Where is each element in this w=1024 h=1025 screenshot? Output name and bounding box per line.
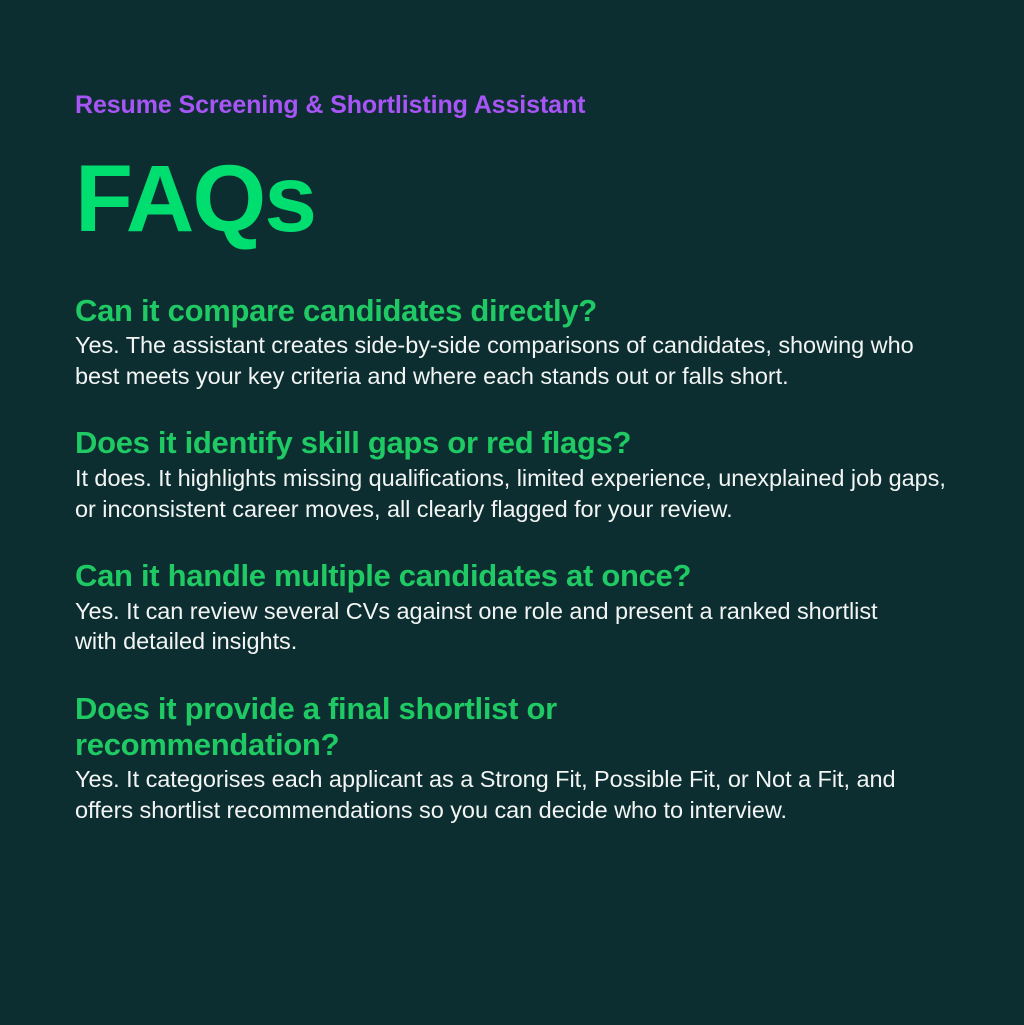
faq-question: Can it handle multiple candidates at onc… bbox=[75, 558, 935, 593]
faq-item: Can it handle multiple candidates at onc… bbox=[75, 558, 955, 657]
faq-item: Does it identify skill gaps or red flags… bbox=[75, 425, 955, 524]
content-container: Resume Screening & Shortlisting Assistan… bbox=[75, 92, 965, 825]
faq-item: Can it compare candidates directly? Yes.… bbox=[75, 293, 955, 392]
faq-item: Does it provide a final shortlist or rec… bbox=[75, 691, 955, 825]
faq-list: Can it compare candidates directly? Yes.… bbox=[75, 293, 965, 826]
faq-page: Resume Screening & Shortlisting Assistan… bbox=[0, 0, 1024, 1025]
faq-question: Does it provide a final shortlist or rec… bbox=[75, 691, 675, 762]
page-title: FAQs bbox=[75, 152, 965, 247]
faq-answer: It does. It highlights missing qualifica… bbox=[75, 463, 955, 525]
product-name-eyebrow: Resume Screening & Shortlisting Assistan… bbox=[75, 92, 965, 120]
faq-question: Can it compare candidates directly? bbox=[75, 293, 935, 328]
faq-answer: Yes. The assistant creates side-by-side … bbox=[75, 330, 937, 392]
faq-answer: Yes. It can review several CVs against o… bbox=[75, 596, 905, 658]
faq-question: Does it identify skill gaps or red flags… bbox=[75, 425, 935, 460]
faq-answer: Yes. It categorises each applicant as a … bbox=[75, 764, 927, 826]
